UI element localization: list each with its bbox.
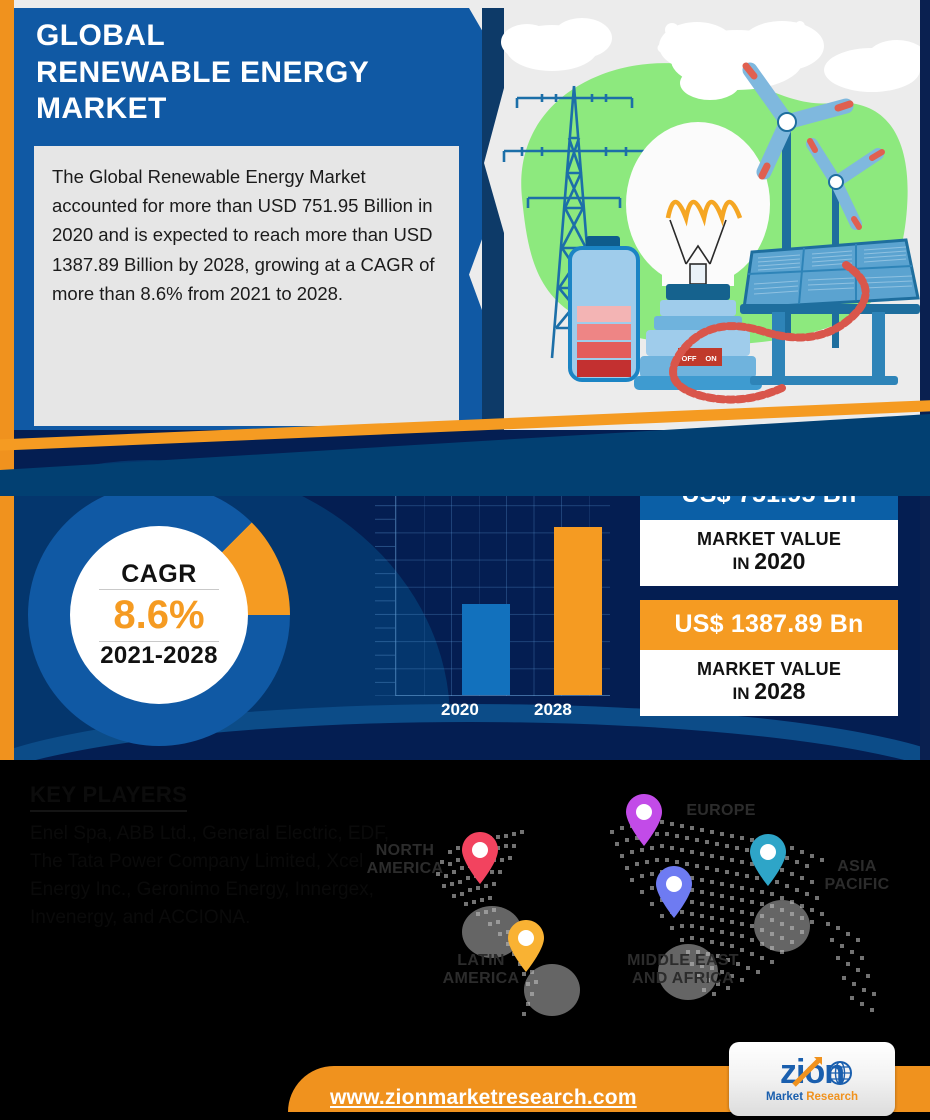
map-pins — [462, 794, 786, 972]
divider-top — [99, 589, 219, 590]
value-cards: US$ 751.95 Bn MARKET VALUE IN 2020 US$ 1… — [640, 470, 898, 730]
world-map: NORTH AMERICA LATIN AMERICA EUROPE MIDDL… — [330, 780, 930, 1030]
switch-on-label: ON — [705, 354, 716, 363]
description-text: The Global Renewable Energy Market accou… — [52, 162, 441, 308]
region-label-middle-east-africa: MIDDLE EAST AND AFRICA — [608, 952, 758, 987]
x-tick-2020: 2020 — [441, 700, 479, 720]
zion-market-research-logo[interactable]: zion Market Research — [729, 1042, 895, 1116]
region-line-1: LATIN — [426, 952, 536, 970]
cagr-donut-chart: CAGR 8.6% 2021-2028 — [28, 484, 290, 746]
region-line-2: PACIFIC — [802, 876, 912, 894]
caption-year: 2020 — [754, 548, 805, 574]
value-caption-2028: MARKET VALUE IN 2028 — [640, 650, 898, 716]
key-players-heading: KEY PLAYERS — [30, 782, 187, 812]
battery — [570, 236, 638, 380]
light-bulb: OFF ON — [626, 122, 770, 390]
illustration-svg: OFF ON — [482, 8, 930, 432]
region-label-europe: EUROPE — [666, 802, 776, 820]
switch-off-label: OFF — [682, 354, 697, 363]
caption-line-1: MARKET VALUE — [646, 529, 892, 549]
region-line-2: AND AFRICA — [608, 970, 758, 988]
key-players-text: Enel Spa, ABB Ltd., General Electric, ED… — [30, 820, 400, 932]
region-line-1: EUROPE — [666, 802, 776, 820]
bar-2028 — [554, 527, 602, 695]
pin-middle-east-africa — [656, 866, 692, 918]
donut-center: CAGR 8.6% 2021-2028 — [70, 526, 248, 704]
region-label-asia-pacific: ASIA PACIFIC — [802, 858, 912, 893]
pin-europe — [626, 794, 662, 846]
market-value-bar-chart: 2020 2028 — [375, 478, 610, 728]
caption-in-prefix: IN — [733, 554, 755, 573]
region-line-1: ASIA — [802, 858, 912, 876]
cagr-label: CAGR — [121, 560, 197, 589]
y-axis-ticks — [375, 478, 395, 696]
cagr-value: 8.6% — [113, 593, 204, 638]
cagr-period: 2021-2028 — [100, 642, 217, 670]
value-card-2028: US$ 1387.89 Bn MARKET VALUE IN 2028 — [640, 600, 898, 716]
logo-tagline: Market Research — [766, 1092, 858, 1104]
chart-gridlines — [395, 478, 610, 696]
logo-wordmark: zion — [780, 1055, 844, 1089]
top-section: GLOBAL RENEWABLE ENERGY MARKET The Globa… — [14, 0, 930, 446]
caption-line-2: IN 2028 — [646, 679, 892, 705]
logo-sub-market: Market — [766, 1091, 803, 1103]
caption-year: 2028 — [754, 678, 805, 704]
region-line-2: AMERICA — [426, 970, 536, 988]
bar-2020 — [462, 604, 510, 695]
title-line-2: RENEWABLE ENERGY — [36, 55, 456, 92]
caption-line-1: MARKET VALUE — [646, 659, 892, 679]
page-title: GLOBAL RENEWABLE ENERGY MARKET — [36, 18, 456, 128]
value-amount-2028: US$ 1387.89 Bn — [640, 600, 898, 650]
renewable-energy-illustration: OFF ON — [482, 8, 930, 432]
x-axis-labels: 2020 2028 — [395, 700, 610, 728]
logo-sub-research: Research — [806, 1091, 858, 1103]
key-players-block: KEY PLAYERS Enel Spa, ABB Ltd., General … — [30, 782, 400, 932]
logo-text: zion — [780, 1053, 844, 1091]
region-label-latin-america: LATIN AMERICA — [426, 952, 536, 987]
world-map-svg — [330, 780, 930, 1030]
caption-line-2: IN 2020 — [646, 549, 892, 575]
title-line-3: MARKET — [36, 91, 456, 128]
website-url-link[interactable]: www.zionmarketresearch.com — [330, 1086, 637, 1110]
x-tick-2028: 2028 — [534, 700, 572, 720]
region-line-1: MIDDLE EAST — [608, 952, 758, 970]
title-line-1: GLOBAL — [36, 18, 456, 55]
caption-in-prefix: IN — [733, 684, 755, 703]
infographic-root: GLOBAL RENEWABLE ENERGY MARKET The Globa… — [0, 0, 930, 1120]
value-caption-2020: MARKET VALUE IN 2020 — [640, 520, 898, 586]
description-box: The Global Renewable Energy Market accou… — [34, 146, 459, 426]
